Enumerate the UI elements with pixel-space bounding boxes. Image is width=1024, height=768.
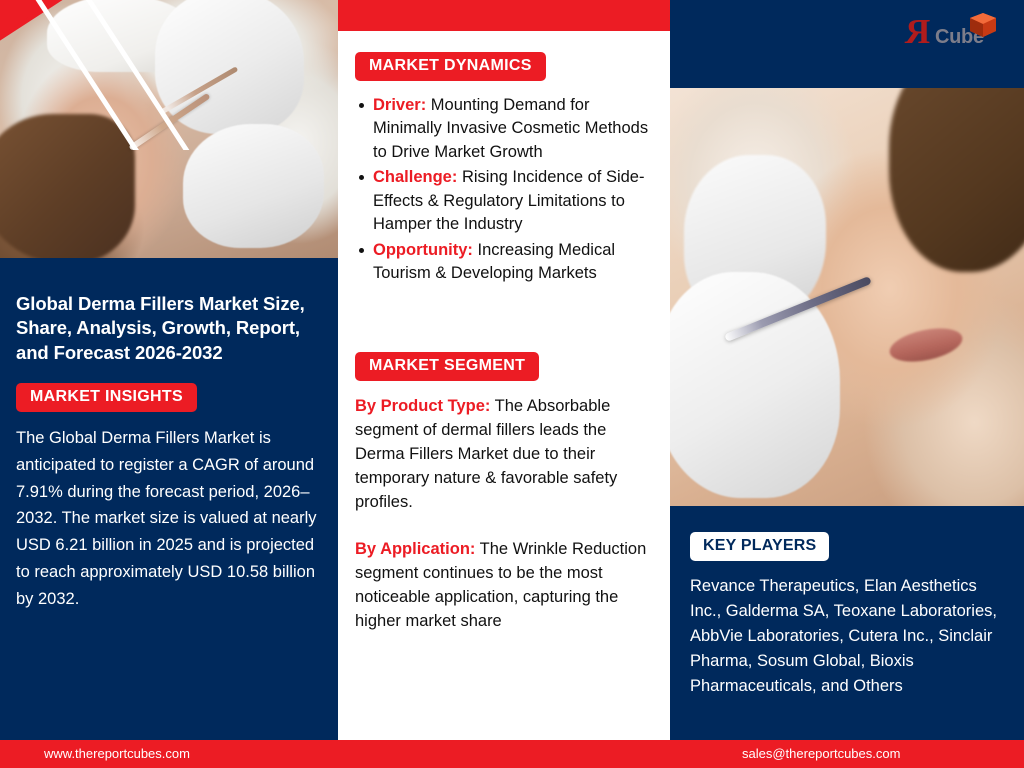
logo-mirrored-r-letter: R (905, 14, 930, 49)
market-dynamics-badge: MARKET DYNAMICS (355, 52, 546, 81)
footer-email-link[interactable]: sales@thereportcubes.com (742, 746, 900, 761)
key-players-text: Revance Therapeutics, Elan Aesthetics In… (690, 574, 1004, 699)
derma-filler-procedure-photo (0, 0, 338, 258)
list-item: Challenge: Rising Incidence of Side-Effe… (355, 166, 653, 236)
segment-application-label: By Application: (355, 540, 475, 558)
middle-top-red-bar (338, 0, 670, 31)
page-title: Global Derma Fillers Market Size, Share,… (16, 292, 322, 365)
market-insights-text: The Global Derma Fillers Market is antic… (16, 425, 322, 612)
market-dynamics-list: Driver: Mounting Demand for Minimally In… (355, 94, 653, 285)
infographic-page: Global Derma Fillers Market Size, Share,… (0, 0, 1024, 768)
left-column: Global Derma Fillers Market Size, Share,… (0, 0, 338, 740)
middle-column: MARKET DYNAMICS Driver: Mounting Demand … (338, 0, 670, 740)
segment-product-type-label: By Product Type: (355, 397, 490, 415)
market-insights-badge-wrap: MARKET INSIGHTS (16, 383, 322, 412)
middle-bottom-white-strip (338, 733, 670, 740)
market-insights-badge: MARKET INSIGHTS (16, 383, 197, 412)
right-header-bar: R Cube (670, 0, 1024, 88)
cube-icon (968, 11, 998, 41)
middle-content-panel: MARKET DYNAMICS Driver: Mounting Demand … (338, 31, 670, 634)
footer-website-link[interactable]: www.thereportcubes.com (44, 746, 190, 761)
segment-product-type-paragraph: By Product Type: The Absorbable segment … (355, 395, 653, 515)
market-segment-section: MARKET SEGMENT By Product Type: The Abso… (355, 352, 653, 633)
dynamics-opportunity-label: Opportunity: (373, 241, 473, 259)
dynamics-driver-label: Driver: (373, 96, 426, 114)
left-content-panel: Global Derma Fillers Market Size, Share,… (0, 258, 338, 740)
photo-glove-lower (183, 124, 325, 248)
reportcubes-logo[interactable]: R Cube (904, 9, 1000, 55)
list-item: Opportunity: Increasing Medical Tourism … (355, 239, 653, 286)
segment-application-paragraph: By Application: The Wrinkle Reduction se… (355, 538, 653, 634)
facial-filler-closeup-photo (670, 88, 1024, 506)
photo-hair-layer (0, 114, 135, 258)
dynamics-challenge-label: Challenge: (373, 168, 457, 186)
key-players-panel: KEY PLAYERS Revance Therapeutics, Elan A… (670, 506, 1024, 740)
market-segment-badge: MARKET SEGMENT (355, 352, 539, 381)
key-players-badge: KEY PLAYERS (690, 532, 829, 561)
footer-bar: www.thereportcubes.com sales@thereportcu… (0, 740, 1024, 768)
list-item: Driver: Mounting Demand for Minimally In… (355, 94, 653, 164)
